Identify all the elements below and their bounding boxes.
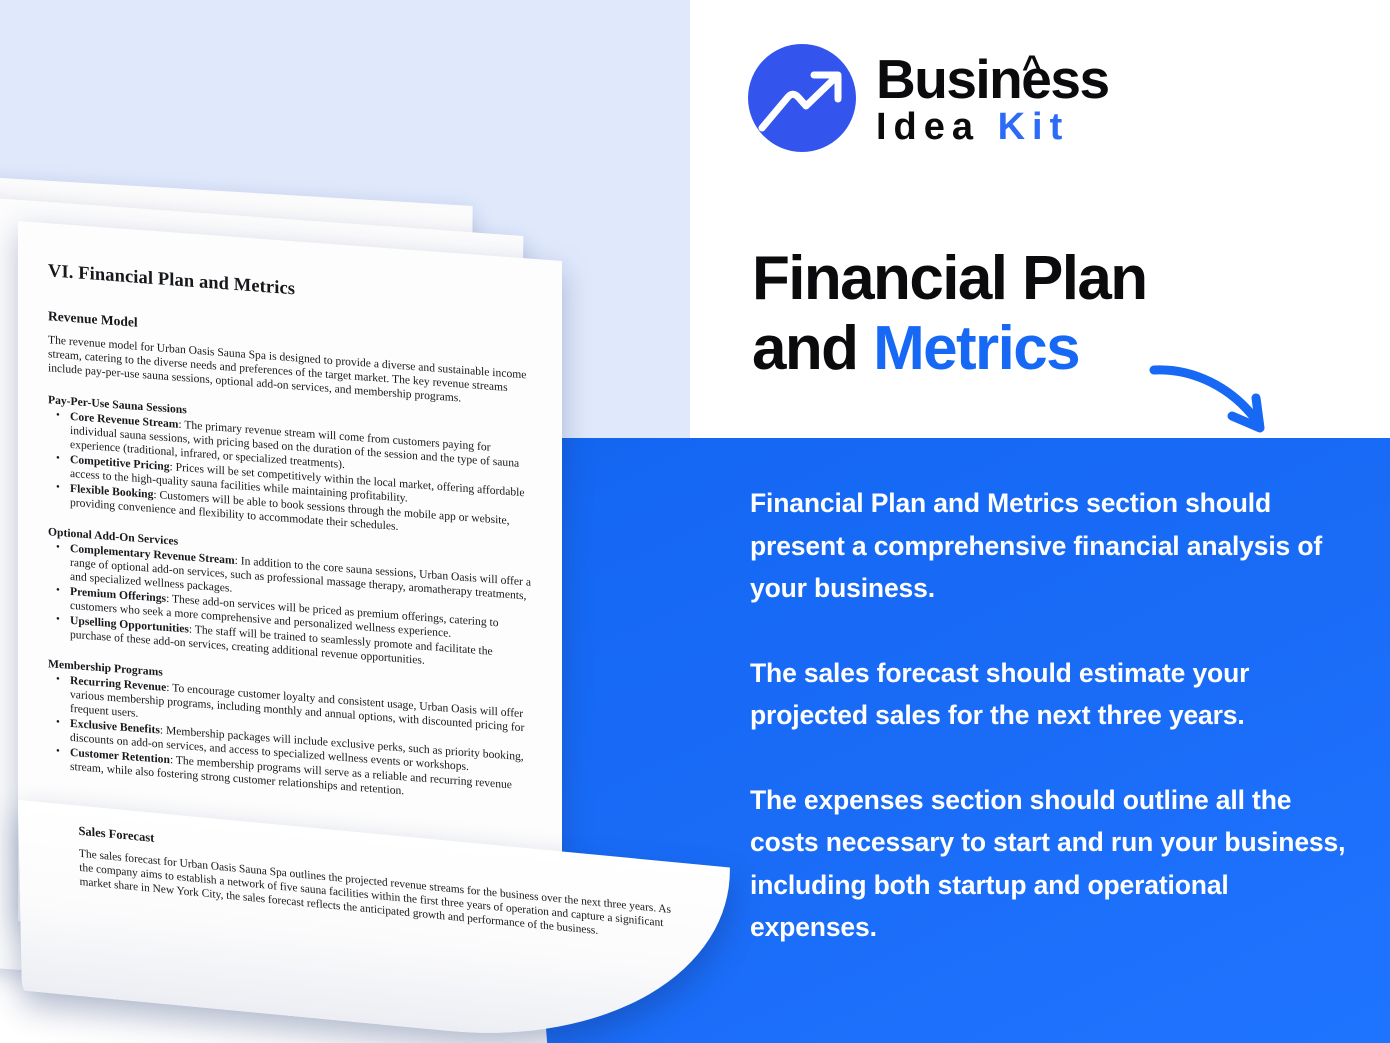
page-title-line1: Financial Plan xyxy=(752,244,1312,314)
document-stack: V Re The inc stre Pay Op M V Re The inc … xyxy=(0,0,760,1043)
poster-canvas: V Re The inc stre Pay Op M V Re The inc … xyxy=(0,0,1390,1043)
brand-name-line2-black: Idea xyxy=(876,106,980,148)
page-title-line2-accent: Metrics xyxy=(873,314,1079,383)
page-title-line2-black: and xyxy=(752,314,873,383)
document-content: VI. Financial Plan and Metrics Revenue M… xyxy=(48,261,534,807)
brand-name-line1: Business ^ xyxy=(876,52,1109,106)
brand-name-line1-text: Business xyxy=(876,48,1109,110)
document-title: VI. Financial Plan and Metrics xyxy=(48,261,534,318)
brand-wordmark: Business ^ Idea Kit xyxy=(876,52,1109,148)
circumflex-diacritic-icon: ^ xyxy=(1022,41,1040,95)
brand-name-line2: Idea Kit xyxy=(876,106,1109,148)
brand-name-line2-blue: Kit xyxy=(998,106,1070,148)
document-page-curl: Sales Forecast The sales forecast for Ur… xyxy=(18,800,734,1043)
brand-logo[interactable]: Business ^ Idea Kit xyxy=(748,44,1109,152)
curved-arrow-down-right-icon xyxy=(1146,358,1286,448)
panel-paragraph: The sales forecast should estimate your … xyxy=(750,652,1350,737)
panel-description: Financial Plan and Metrics section shoul… xyxy=(750,482,1350,949)
panel-paragraph: Financial Plan and Metrics section shoul… xyxy=(750,482,1350,610)
panel-paragraph: The expenses section should outline all … xyxy=(750,779,1350,949)
trending-up-arrow-in-circle-icon xyxy=(748,44,856,152)
